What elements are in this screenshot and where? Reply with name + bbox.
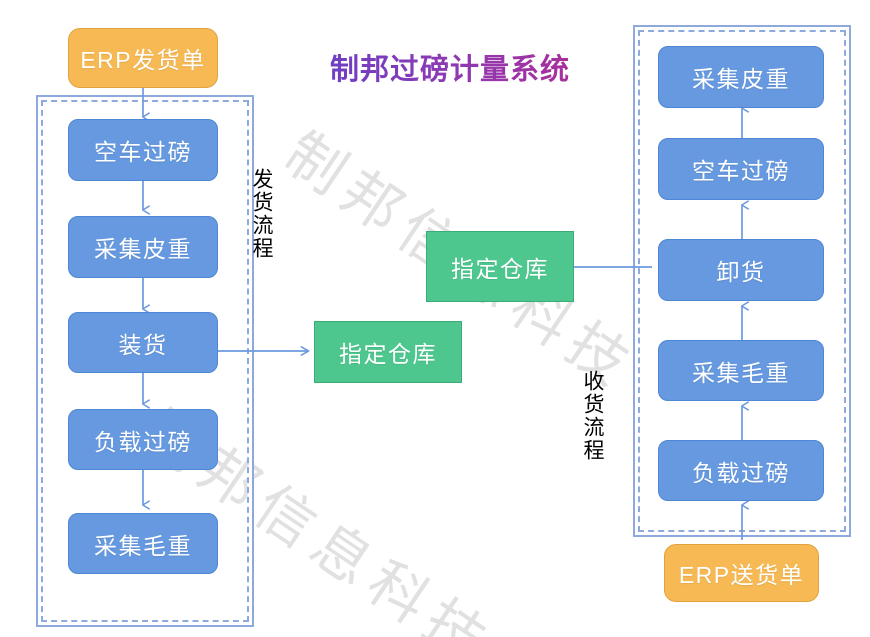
node-outbound-collect-tare[interactable]: 采集皮重 xyxy=(68,216,218,278)
node-inbound-collect-gross[interactable]: 采集毛重 xyxy=(658,340,824,401)
node-inbound-unloading[interactable]: 卸货 xyxy=(658,239,824,301)
node-outbound-empty-weigh[interactable]: 空车过磅 xyxy=(68,119,218,181)
node-inbound-empty-weigh[interactable]: 空车过磅 xyxy=(658,138,824,200)
node-erp-outbound-order[interactable]: ERP发货单 xyxy=(68,28,218,88)
diagram-canvas: 制邦信息科技 制邦信息科技 制邦过磅计量系统 xyxy=(0,0,870,637)
node-erp-inbound-order[interactable]: ERP送货单 xyxy=(664,544,819,602)
node-warehouse-inbound[interactable]: 指定仓库 xyxy=(426,231,574,302)
node-inbound-loaded-weigh[interactable]: 负载过磅 xyxy=(658,440,824,501)
page-title: 制邦过磅计量系统 xyxy=(330,46,570,88)
node-warehouse-outbound[interactable]: 指定仓库 xyxy=(314,321,462,383)
node-outbound-collect-gross[interactable]: 采集毛重 xyxy=(68,513,218,574)
node-outbound-loading[interactable]: 装货 xyxy=(68,312,218,373)
node-inbound-collect-tare[interactable]: 采集皮重 xyxy=(658,46,824,108)
node-outbound-loaded-weigh[interactable]: 负载过磅 xyxy=(68,409,218,470)
outbound-flow-label: 发货流程 xyxy=(251,168,272,260)
inbound-flow-label: 收货流程 xyxy=(582,370,603,462)
